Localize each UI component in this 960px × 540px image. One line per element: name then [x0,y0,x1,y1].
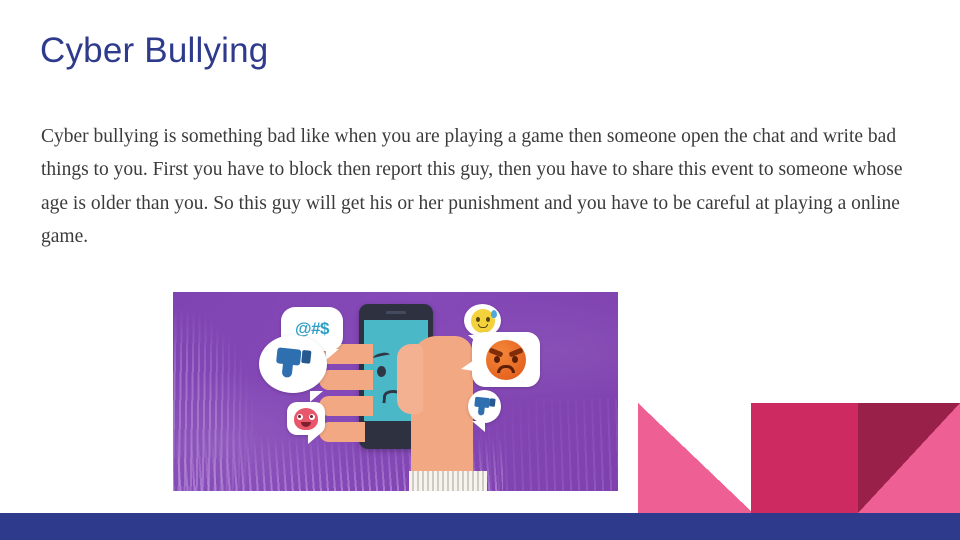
slide-canvas: Cyber Bullying Cyber bullying is somethi… [0,0,960,540]
maroon-triangle-right [858,403,960,513]
thumbs-down-bubble-small [468,390,501,423]
page-title: Cyber Bullying [40,31,268,71]
cyber-bullying-illustration: @#$ [173,292,618,491]
angry-face-bubble [472,332,540,387]
bubble-tail-icon [326,349,339,360]
pink-triangle-left [638,403,753,513]
sweating-face-emoji [471,309,495,333]
thumbs-down-bubble-large [259,335,327,393]
bubble-tail-icon [308,433,321,444]
bubble-tail-icon [461,360,474,371]
crimson-square [751,403,859,513]
thumbs-down-icon [473,396,495,417]
body-paragraph: Cyber bullying is something bad like whe… [41,120,923,254]
bubble-tail-icon [472,421,485,432]
thumbs-down-icon [275,347,312,380]
phone-speaker [386,311,406,314]
bubble-tail-icon [310,391,323,402]
angry-monster-bubble [287,402,325,435]
bottom-accent-bar [0,513,960,540]
angry-face-emoji [486,340,526,380]
sleeve-cuff [409,471,487,491]
hand-thumb [397,344,423,414]
decorative-corner-shapes [638,403,960,513]
angry-monster-emoji [294,408,318,430]
